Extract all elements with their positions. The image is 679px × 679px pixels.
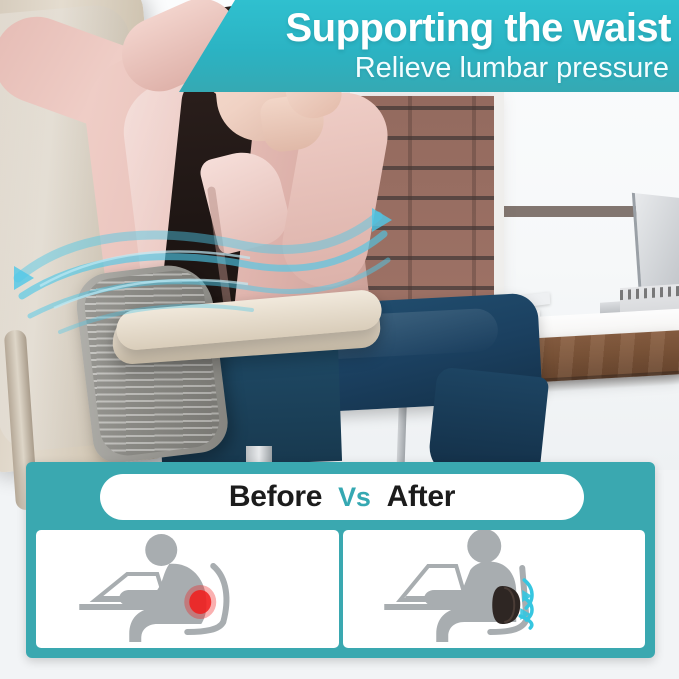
product-marketing-image: Supporting the waist Relieve lumbar pres… (0, 0, 679, 679)
before-vs-after-label: Before Vs After (100, 474, 584, 520)
banner-title: Supporting the waist (285, 6, 671, 51)
after-card (343, 530, 646, 648)
before-card (36, 530, 339, 648)
vs-label: Vs (338, 482, 370, 513)
header-banner: Supporting the waist Relieve lumbar pres… (179, 0, 679, 92)
lumbar-support-cushion (73, 260, 231, 465)
upright-person-with-lumbar-cushion-icon (343, 530, 646, 648)
banner-subtitle: Relieve lumbar pressure (355, 52, 669, 85)
before-label: Before (229, 480, 322, 514)
comparison-cards (36, 530, 645, 648)
after-label: After (387, 480, 456, 514)
before-after-panel: Before Vs After (26, 462, 655, 658)
slouching-person-at-laptop-icon (36, 530, 339, 648)
